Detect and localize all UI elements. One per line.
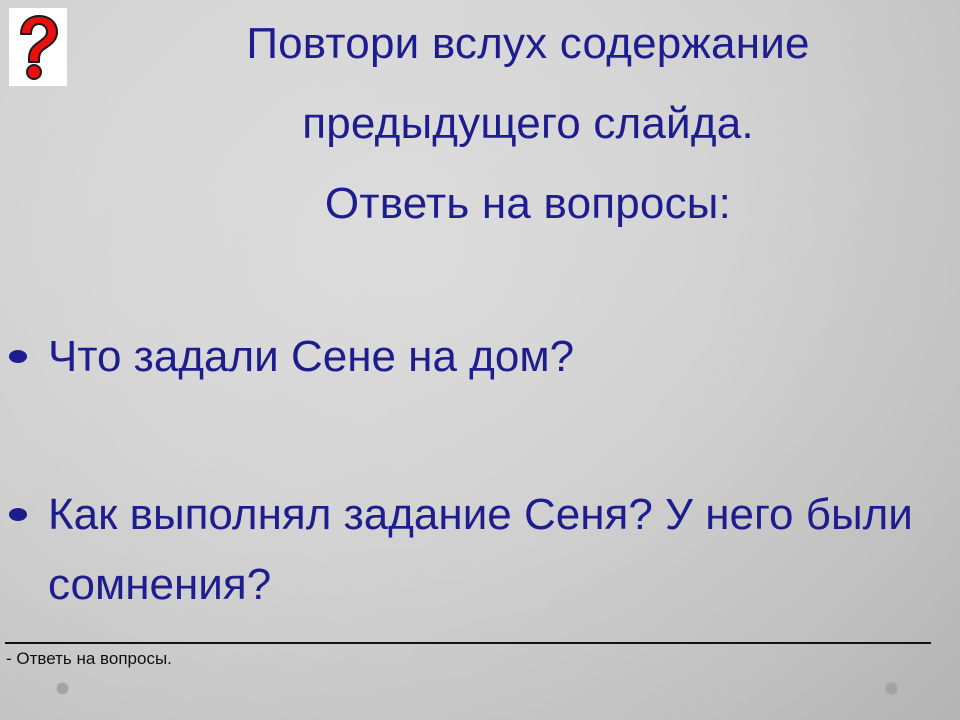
title-line-1: Повтори вслух содержание [96,4,960,84]
footer-divider [5,642,931,644]
presentation-slide: Повтори вслух содержание предыдущего сла… [0,0,960,720]
decorative-dot-icon-right [886,683,897,694]
bullet-dot-icon [9,350,27,363]
question-mark-icon [15,14,61,80]
bullet-dot-icon [9,508,27,521]
title-line-2: предыдущего слайда. [96,84,960,164]
slide-title: Повтори вслух содержание предыдущего сла… [96,4,960,244]
decorative-dot-icon-left [57,683,68,694]
question-text-1: Что задали Сене на дом? [48,322,945,392]
title-line-3: Ответь на вопросы: [96,164,960,244]
question-text-2: Как выполнял задание Сеня? У него были с… [48,480,945,620]
question-mark-image [9,8,67,86]
list-item: Как выполнял задание Сеня? У него были с… [0,480,945,620]
footer-note: - Ответь на вопросы. [6,648,172,670]
list-item: Что задали Сене на дом? [0,322,945,392]
question-list: Что задали Сене на дом? Как выполнял зад… [0,322,945,620]
